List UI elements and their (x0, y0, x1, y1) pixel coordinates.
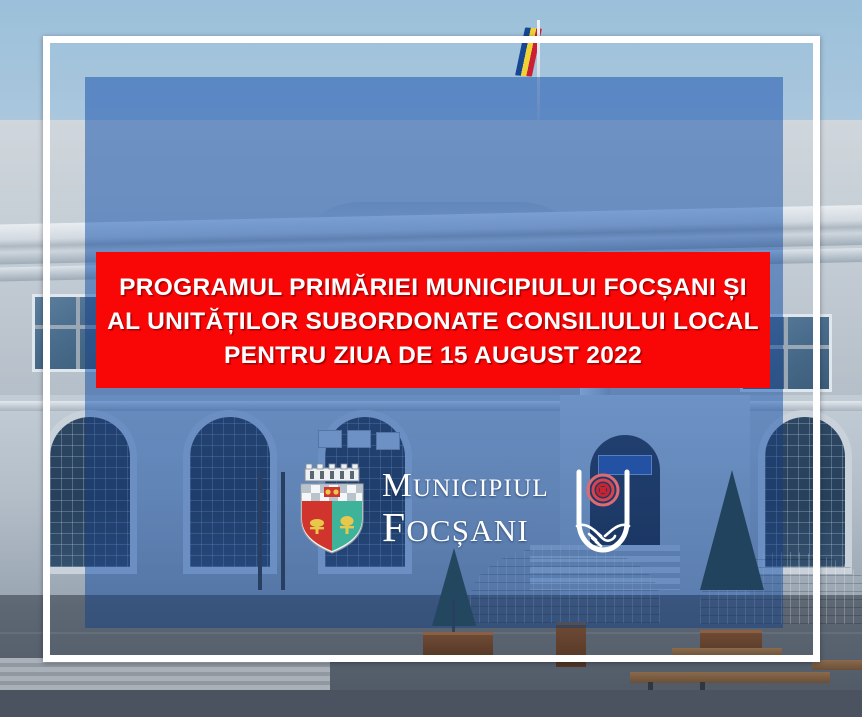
logo-word-municipiul-rest: UNICIPIUL (413, 475, 549, 502)
banner-line-3: PENTRU ZIUA DE 15 AUGUST 2022 (224, 339, 642, 373)
logo-word-municipiul-cap: M (382, 467, 413, 504)
u-handshake-target-icon (565, 460, 641, 558)
logo-word-focsani: FOCȘANI (382, 506, 549, 548)
plaza-low-wall (0, 658, 330, 692)
bench (630, 672, 830, 683)
banner-line-2: AL UNITĂȚILOR SUBORDONATE CONSILIULUI LO… (107, 305, 759, 339)
banner-line-1: PROGRAMUL PRIMĂRIEI MUNICIPIULUI FOCȘANI… (119, 271, 747, 305)
foreground-pavement (0, 690, 862, 717)
logo-word-municipiul: MUNICIPIUL (382, 469, 549, 503)
coat-of-arms-icon (296, 463, 368, 555)
municipality-logo-lockup: MUNICIPIUL FOCȘANI (296, 458, 596, 560)
logo-wordmark: MUNICIPIUL FOCȘANI (378, 469, 549, 549)
logo-word-focsani-rest: OCȘANI (406, 513, 529, 548)
announcement-banner: PROGRAMUL PRIMĂRIEI MUNICIPIULUI FOCȘANI… (96, 252, 770, 388)
poster-root: PROGRAMUL PRIMĂRIEI MUNICIPIULUI FOCȘANI… (0, 0, 862, 717)
logo-word-focsani-cap: F (382, 504, 406, 550)
